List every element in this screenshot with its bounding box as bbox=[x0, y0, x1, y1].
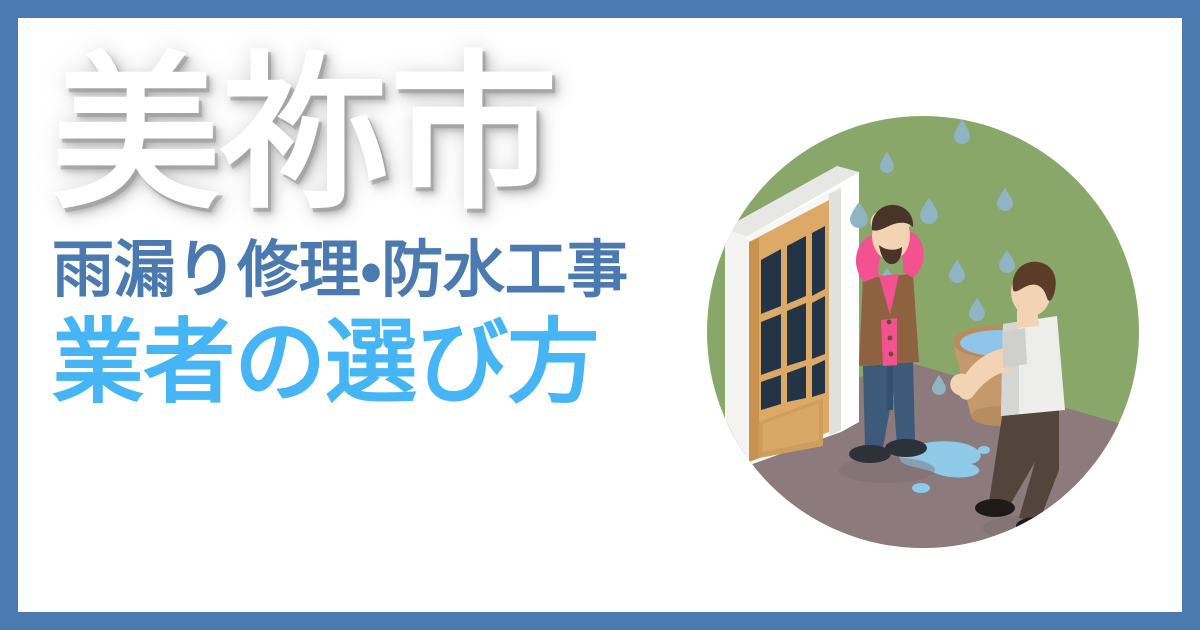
right-person-shoe-back bbox=[975, 499, 1015, 517]
left-person-shoe-left bbox=[849, 445, 891, 463]
border-left bbox=[0, 0, 18, 630]
right-person-sleeve bbox=[1003, 328, 1027, 368]
border-right bbox=[1182, 0, 1200, 630]
left-person-shadow bbox=[839, 457, 935, 483]
border-bottom bbox=[0, 612, 1200, 630]
border-top bbox=[0, 0, 1200, 18]
ogp-card: 美祢市 雨漏り修理・防水工事 業者の選び方 bbox=[0, 0, 1200, 630]
right-person-shoe-front bbox=[1016, 517, 1058, 535]
headline-block: 美祢市 雨漏り修理・防水工事 業者の選び方 bbox=[52, 50, 712, 415]
city-name-title: 美祢市 bbox=[52, 50, 712, 218]
door-leaf-shade bbox=[749, 238, 759, 462]
door-casing-left bbox=[725, 228, 747, 466]
topic-heading: 業者の選び方 bbox=[52, 313, 712, 414]
left-person-shoe-right bbox=[885, 439, 927, 457]
door-casing-edge bbox=[829, 188, 841, 436]
service-subtitle: 雨漏り修理・防水工事 bbox=[52, 236, 712, 305]
roof-leak-illustration bbox=[707, 110, 1139, 562]
